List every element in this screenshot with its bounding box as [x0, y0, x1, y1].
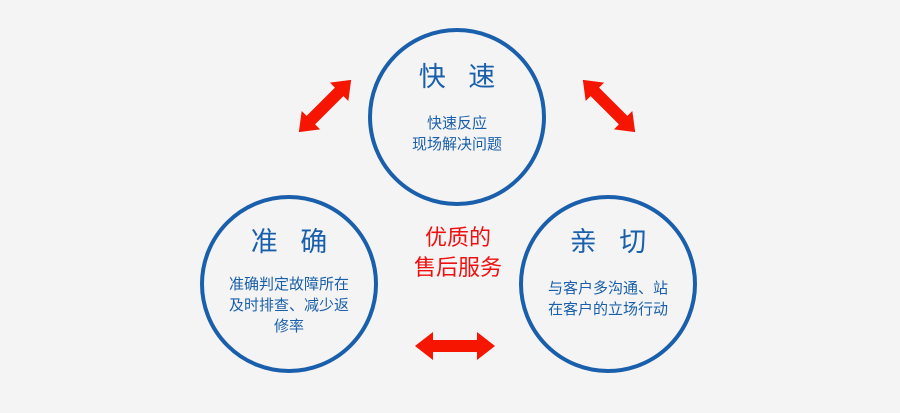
arrow-accurate-friendly	[415, 332, 495, 360]
node-fast[interactable]: 快 速 快速反应 现场解决问题	[368, 28, 546, 206]
arrow-fast-accurate	[290, 71, 361, 142]
double-arrow-icon	[290, 71, 361, 142]
node-fast-title: 快 速	[412, 64, 503, 91]
double-arrow-icon	[574, 71, 645, 142]
node-friendly-description-line-2: 在客户的立场行动	[548, 299, 668, 320]
node-accurate-description: 准确判定故障所在 及时排查、减少返 修率	[229, 274, 349, 337]
node-friendly[interactable]: 亲 切 与客户多沟通、站 在客户的立场行动	[519, 195, 697, 373]
node-fast-description-line-2: 现场解决问题	[412, 134, 502, 155]
center-caption-line-2: 售后服务	[398, 254, 518, 284]
node-friendly-description-line-1: 与客户多沟通、站	[548, 278, 668, 299]
node-friendly-title: 亲 切	[563, 229, 654, 256]
node-accurate[interactable]: 准 确 准确判定故障所在 及时排查、减少返 修率	[200, 195, 378, 373]
node-friendly-description: 与客户多沟通、站 在客户的立场行动	[548, 278, 668, 320]
center-caption-line-1: 优质的	[398, 224, 518, 254]
node-fast-description: 快速反应 现场解决问题	[412, 113, 502, 155]
node-accurate-description-line-3: 修率	[229, 316, 349, 337]
node-accurate-description-line-1: 准确判定故障所在	[229, 274, 349, 295]
double-arrow-icon	[415, 332, 495, 360]
node-fast-description-line-1: 快速反应	[412, 113, 502, 134]
service-cycle-diagram: 快 速 快速反应 现场解决问题 准 确 准确判定故障所在 及时排查、减少返 修率…	[0, 0, 900, 413]
node-accurate-title: 准 确	[244, 229, 335, 256]
node-accurate-description-line-2: 及时排查、减少返	[229, 295, 349, 316]
arrow-fast-friendly	[574, 71, 645, 142]
center-caption: 优质的 售后服务	[398, 224, 518, 284]
